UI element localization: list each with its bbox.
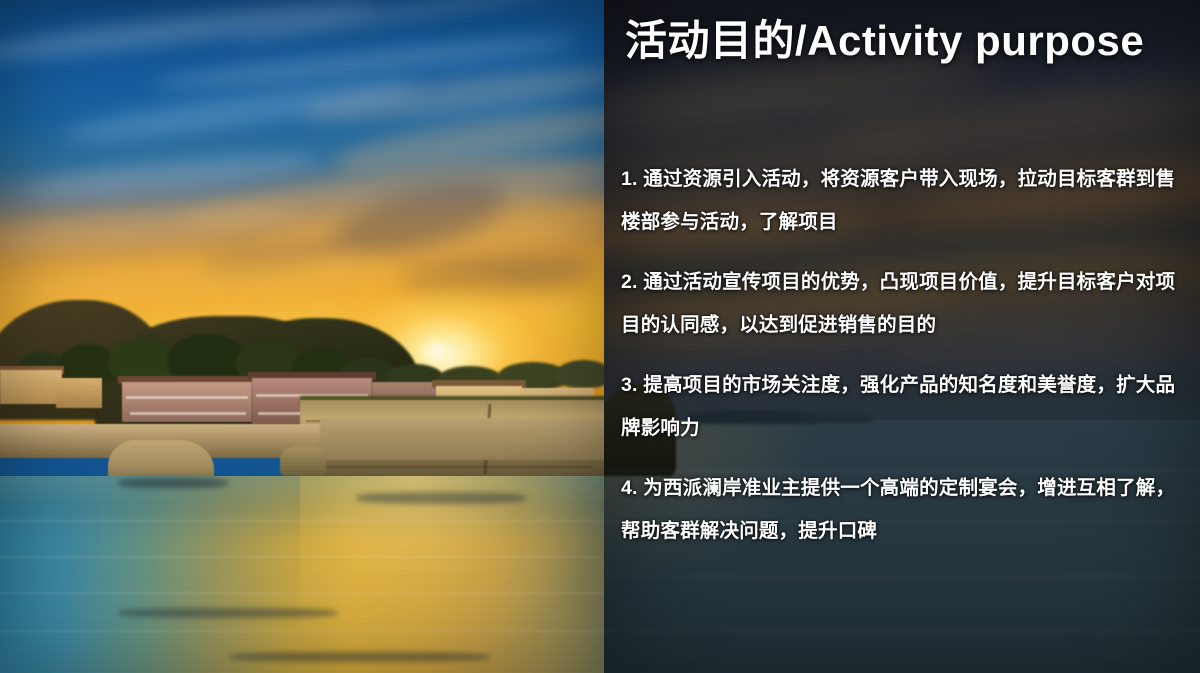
page-title: 活动目的/Activity purpose <box>625 18 1144 64</box>
photo-vignette <box>0 0 604 673</box>
list-item: 3. 提高项目的市场关注度，强化产品的知名度和美誉度，扩大品牌影响力 <box>621 364 1189 450</box>
list-item: 1. 通过资源引入活动，将资源客户带入现场，拉动目标客群到售楼部参与活动，了解项… <box>621 158 1189 244</box>
panel-content: 活动目的/Activity purpose 1. 通过资源引入活动，将资源客户带… <box>604 0 1200 673</box>
presentation-slide: 活动目的/Activity purpose 1. 通过资源引入活动，将资源客户带… <box>0 0 1200 673</box>
list-item: 4. 为西派澜岸准业主提供一个高端的定制宴会，增进互相了解，帮助客群解决问题，提… <box>621 467 1189 553</box>
text-panel: 活动目的/Activity purpose 1. 通过资源引入活动，将资源客户带… <box>604 0 1200 673</box>
purpose-list: 1. 通过资源引入活动，将资源客户带入现场，拉动目标客群到售楼部参与活动，了解项… <box>621 158 1189 553</box>
list-item: 2. 通过活动宣传项目的优势，凸现项目价值，提升目标客户对项目的认同感，以达到促… <box>621 261 1189 347</box>
coastal-sunset-photo <box>0 0 604 673</box>
